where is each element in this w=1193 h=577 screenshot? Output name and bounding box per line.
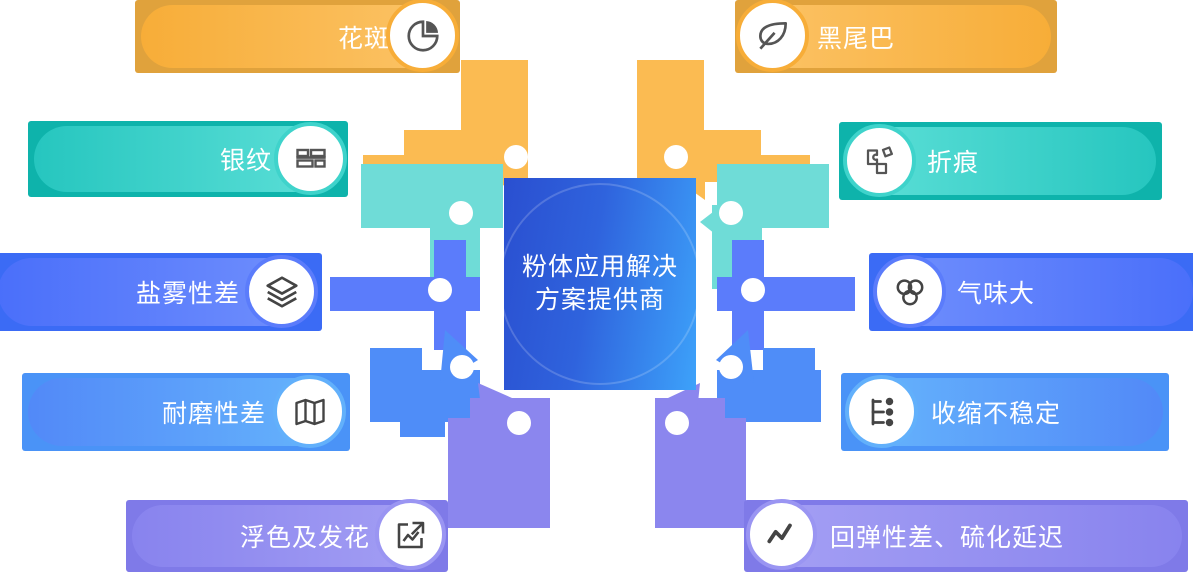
- map-icon: [273, 375, 346, 448]
- brick-wall-icon: [274, 122, 347, 195]
- node-left-1[interactable]: 花斑: [135, 0, 460, 73]
- node-left-1-label: 花斑: [338, 19, 390, 55]
- node-left-5[interactable]: 浮色及发花: [126, 500, 448, 572]
- puzzle-icon: [843, 124, 916, 197]
- node-right-5[interactable]: 回弹性差、硫化延迟: [744, 500, 1188, 572]
- node-left-4-label: 耐磨性差: [162, 394, 266, 430]
- connector-teal-left: [361, 164, 503, 289]
- node-left-3[interactable]: 盐雾性差: [0, 253, 322, 331]
- layers-icon: [245, 255, 318, 328]
- node-left-3-label: 盐雾性差: [136, 274, 240, 310]
- connector-teal-right: [700, 164, 829, 289]
- node-right-1[interactable]: 黑尾巴: [735, 0, 1057, 73]
- center-title-line-2: 方案提供商: [535, 284, 665, 317]
- node-right-3[interactable]: 气味大: [869, 253, 1193, 331]
- connector-blue-right: [717, 240, 855, 350]
- trend-up-icon: [375, 499, 446, 570]
- node-left-5-label: 浮色及发花: [240, 518, 370, 554]
- node-right-1-label: 黑尾巴: [817, 19, 895, 55]
- node-left-2-label: 银纹: [220, 141, 272, 177]
- node-right-4-label: 收缩不稳定: [931, 394, 1061, 430]
- connector-bluelight-right: [716, 330, 821, 422]
- node-right-3-label: 气味大: [957, 274, 1035, 310]
- line-chart-icon: [746, 499, 817, 570]
- center-title-line-1: 粉体应用解决: [522, 251, 678, 284]
- node-right-2[interactable]: 折痕: [839, 122, 1162, 200]
- recycle-icon: [873, 255, 946, 328]
- node-right-2-label: 折痕: [927, 143, 979, 179]
- pie-chart-icon: [386, 0, 459, 72]
- infographic-canvas: 粉体应用解决 方案提供商 花斑 银纹 盐雾性差: [0, 0, 1193, 577]
- node-left-2[interactable]: 银纹: [28, 121, 348, 197]
- leaf-icon: [736, 0, 809, 72]
- node-right-4[interactable]: 收缩不稳定: [841, 373, 1169, 451]
- node-left-4[interactable]: 耐磨性差: [22, 373, 350, 451]
- node-right-5-label: 回弹性差、硫化延迟: [830, 518, 1064, 554]
- center-node[interactable]: 粉体应用解决 方案提供商: [504, 178, 696, 390]
- sitemap-icon: [845, 375, 918, 448]
- connector-blue-left: [330, 240, 480, 350]
